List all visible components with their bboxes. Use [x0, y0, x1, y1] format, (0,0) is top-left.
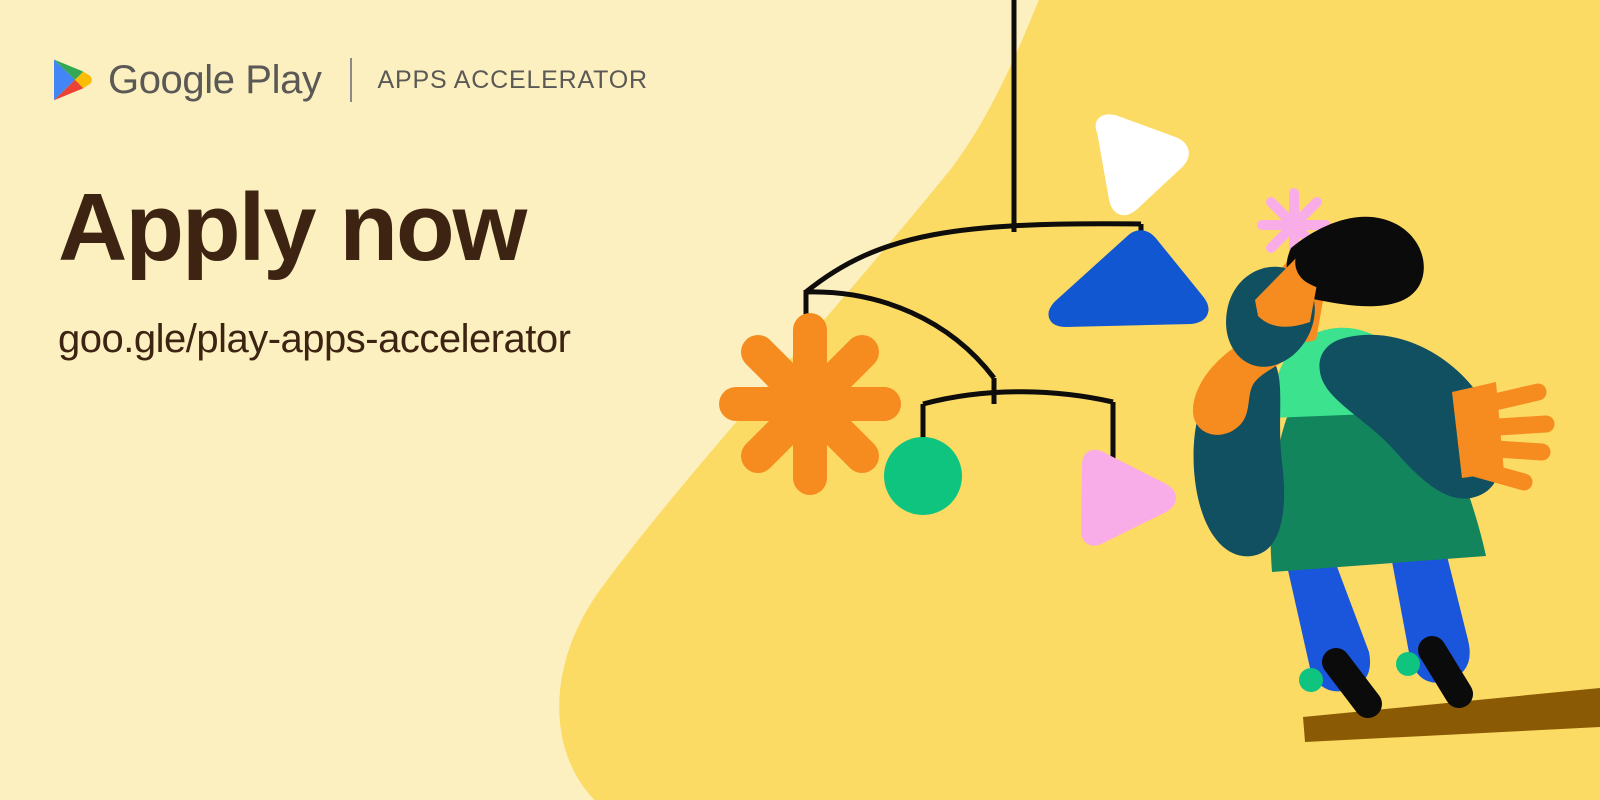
promo-banner: Google Play APPS ACCELERATOR Apply now g…: [0, 0, 1600, 800]
apply-url[interactable]: goo.gle/play-apps-accelerator: [58, 315, 570, 363]
brand-name: Google Play: [108, 60, 322, 100]
page-title: Apply now: [58, 178, 525, 279]
content-layer: Google Play APPS ACCELERATOR Apply now g…: [0, 0, 1600, 800]
brand-lockup: Google Play APPS ACCELERATOR: [52, 52, 648, 108]
google-play-triangle-icon: [52, 58, 92, 102]
lockup-divider: [350, 58, 352, 102]
program-name: APPS ACCELERATOR: [378, 68, 648, 93]
